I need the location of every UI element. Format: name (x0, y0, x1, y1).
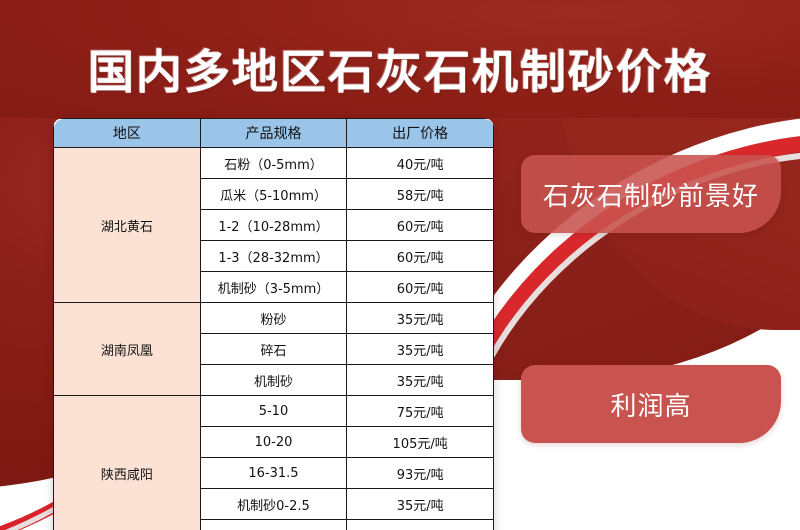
price-cell: 60元/吨 (347, 210, 494, 241)
poster-canvas: 国内多地区石灰石机制砂价格 地区 产品规格 出厂价格 湖北黄石石粉（0-5mm）… (0, 0, 800, 530)
table-head: 地区 产品规格 出厂价格 (54, 119, 494, 148)
price-cell: 105元/吨 (347, 427, 494, 458)
spec-cell: 5-10 (200, 396, 347, 427)
spec-cell: 1-3（28-32mm） (200, 241, 347, 272)
column-header-spec: 产品规格 (200, 119, 347, 148)
price-cell: 35元/吨 (347, 365, 494, 396)
callout-prospect[interactable]: 石灰石制砂前景好 (521, 155, 781, 233)
spec-cell: 机制砂（3-5mm） (200, 272, 347, 303)
price-cell: 35元/吨 (347, 489, 494, 520)
spec-cell: 机制砂0-2.5 (200, 489, 347, 520)
price-cell: 60元/吨 (347, 272, 494, 303)
price-cell: 35元/吨 (347, 334, 494, 365)
spec-cell: 粉砂 (200, 303, 347, 334)
table-header-row: 地区 产品规格 出厂价格 (54, 119, 494, 148)
spec-cell: 机制砂 (200, 365, 347, 396)
price-cell: 45元/吨 (347, 520, 494, 530)
region-cell: 湖南凤凰 (54, 303, 201, 396)
spec-cell: 石粉（0-5mm） (200, 148, 347, 179)
price-table: 地区 产品规格 出厂价格 湖北黄石石粉（0-5mm）40元/吨瓜米（5-10mm… (53, 118, 494, 530)
page-title: 国内多地区石灰石机制砂价格 (0, 36, 800, 102)
price-cell: 75元/吨 (347, 396, 494, 427)
spec-cell: 米石2.5-5 (200, 520, 347, 530)
price-cell: 35元/吨 (347, 303, 494, 334)
callout-profit[interactable]: 利润高 (521, 365, 781, 443)
spec-cell: 瓜米（5-10mm） (200, 179, 347, 210)
price-cell: 60元/吨 (347, 241, 494, 272)
region-cell: 湖北黄石 (54, 148, 201, 303)
spec-cell: 碎石 (200, 334, 347, 365)
spec-cell: 1-2（10-28mm） (200, 210, 347, 241)
table-row: 湖北黄石石粉（0-5mm）40元/吨 (54, 148, 494, 179)
table-row: 陕西咸阳5-1075元/吨 (54, 396, 494, 427)
price-cell: 58元/吨 (347, 179, 494, 210)
price-cell: 40元/吨 (347, 148, 494, 179)
spec-cell: 16-31.5 (200, 458, 347, 489)
column-header-price: 出厂价格 (347, 119, 494, 148)
spec-cell: 10-20 (200, 427, 347, 458)
table-row: 湖南凤凰粉砂35元/吨 (54, 303, 494, 334)
price-cell: 93元/吨 (347, 458, 494, 489)
table-body: 湖北黄石石粉（0-5mm）40元/吨瓜米（5-10mm）58元/吨1-2（10-… (54, 148, 494, 530)
price-table-container: 地区 产品规格 出厂价格 湖北黄石石粉（0-5mm）40元/吨瓜米（5-10mm… (53, 118, 494, 530)
callout-prospect-label: 石灰石制砂前景好 (543, 176, 759, 213)
column-header-region: 地区 (54, 119, 201, 148)
region-cell: 陕西咸阳 (54, 396, 201, 530)
callout-profit-label: 利润高 (610, 386, 691, 423)
